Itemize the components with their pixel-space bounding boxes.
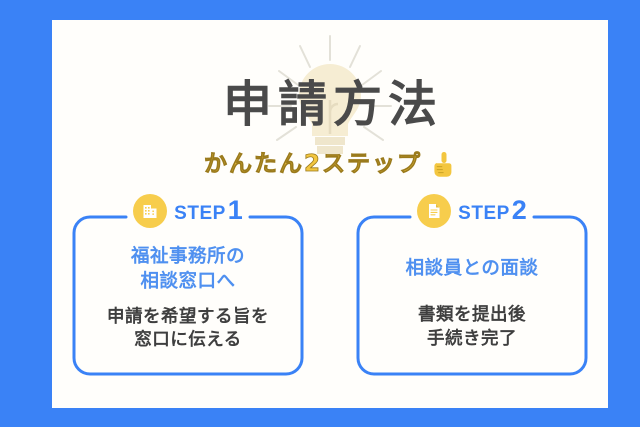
step-2-label-number: 2: [512, 197, 527, 224]
subtitle-text: かんたん2ステップ: [204, 153, 422, 176]
step-card-2-body: 相談員との面談 書類を提出後 手続き完了: [352, 239, 592, 367]
poster-root: 申請方法 かんたん2ステップ: [0, 0, 640, 427]
hero-section: 申請方法 かんたん2ステップ: [52, 20, 608, 195]
document-icon: [417, 194, 451, 228]
step-2-label-word: STEP: [458, 203, 510, 225]
step-2-description: 書類を提出後 手続き完了: [418, 304, 526, 352]
step-2-headline: 相談員との面談: [406, 257, 539, 282]
step-card-1-body: 福祉事務所の 相談窓口へ 申請を希望する旨を 窓口に伝える: [68, 239, 308, 367]
step-1-label-word: STEP: [174, 203, 226, 225]
step-1-headline: 福祉事務所の 相談窓口へ: [131, 245, 245, 295]
step-card-1[interactable]: STEP 1 福祉事務所の 相談窓口へ 申請を希望する旨を 窓口に伝える: [68, 205, 308, 380]
step-card-2[interactable]: STEP 2 相談員との面談 書類を提出後 手続き完了: [352, 205, 592, 380]
step-1-label-number: 1: [228, 197, 243, 224]
steps-container: STEP 1 福祉事務所の 相談窓口へ 申請を希望する旨を 窓口に伝える: [52, 205, 608, 405]
step-1-description: 申請を希望する旨を 窓口に伝える: [107, 306, 269, 354]
step-card-2-header: STEP 2: [352, 193, 592, 229]
pointing-up-hand-icon: [432, 150, 456, 178]
page-title: 申請方法: [52, 80, 608, 129]
step-2-label: STEP 2: [458, 197, 527, 225]
step-1-label: STEP 1: [174, 197, 243, 225]
step-card-1-header: STEP 1: [68, 193, 308, 229]
subtitle-row: かんたん2ステップ: [52, 150, 608, 178]
white-panel: 申請方法 かんたん2ステップ: [52, 20, 608, 408]
building-icon: [133, 194, 167, 228]
